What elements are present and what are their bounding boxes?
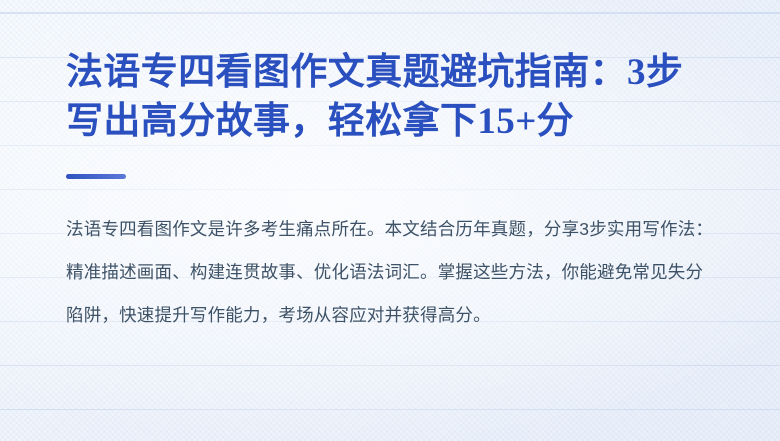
article-content: 法语专四看图作文真题避坑指南：3步写出高分故事，轻松拿下15+分 法语专四看图作… xyxy=(0,0,780,337)
section-divider xyxy=(66,174,126,179)
article-card: 法语专四看图作文真题避坑指南：3步写出高分故事，轻松拿下15+分 法语专四看图作… xyxy=(0,0,780,441)
article-headline: 法语专四看图作文真题避坑指南：3步写出高分故事，轻松拿下15+分 xyxy=(66,48,718,146)
article-summary-text: 法语专四看图作文是许多考生痛点所在。本文结合历年真题，分享3步实用写作法：精准描… xyxy=(66,208,714,337)
article-summary: 法语专四看图作文是许多考生痛点所在。本文结合历年真题，分享3步实用写作法：精准描… xyxy=(66,208,714,337)
divider-container xyxy=(66,174,718,186)
